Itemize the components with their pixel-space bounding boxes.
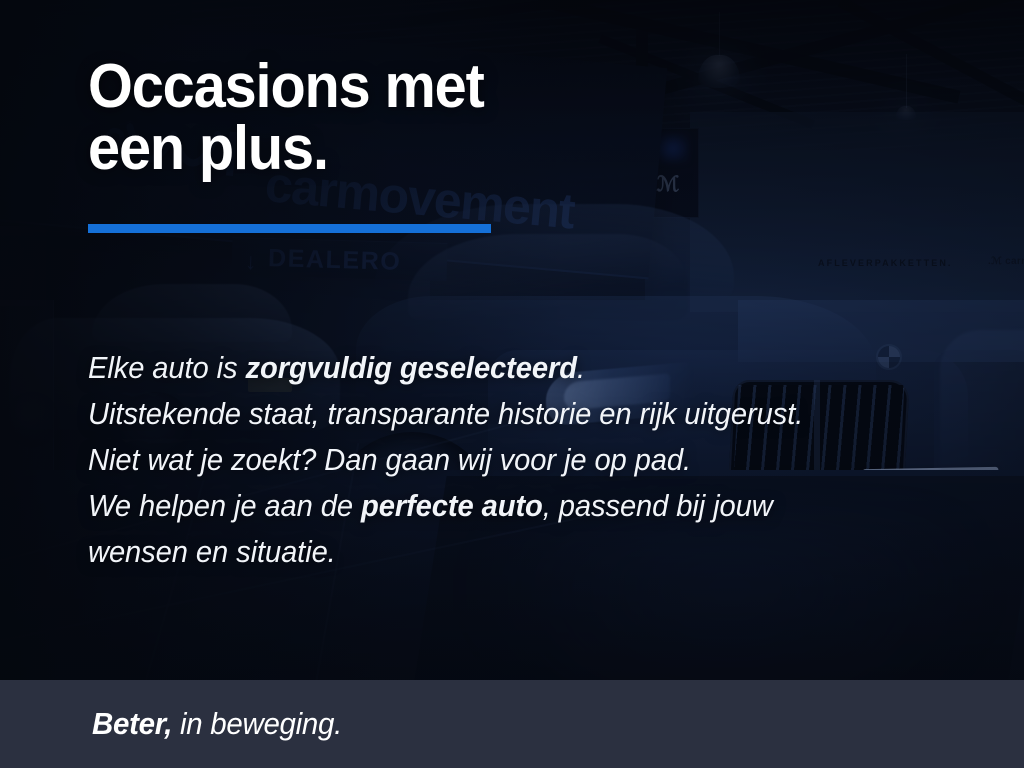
slide-canvas: AFLEVERPAKKETTEN. .ℳ carmovement .ℳ carm… (0, 0, 1024, 768)
footer-tagline: Beter, in beweging. (92, 704, 342, 744)
body-line-1-pre: Elke auto is (88, 350, 246, 385)
body-line-4-bold: perfecte auto (361, 488, 543, 523)
accent-rule (88, 224, 491, 233)
body-line-4-pre: We helpen je aan de (88, 488, 361, 523)
footer-tagline-light: in beweging. (172, 706, 342, 741)
body-line-4: We helpen je aan de perfecte auto, passe… (88, 483, 915, 529)
footer-bar: Beter, in beweging. (0, 680, 1024, 768)
body-line-3-pre: Niet wat je zoekt? Dan gaan wij voor je … (88, 442, 691, 477)
body-line-1-post: . (577, 350, 585, 385)
body-line-5-pre: wensen en situatie. (88, 534, 336, 569)
body-line-4-post: , passend bij jouw (543, 488, 773, 523)
slide-content: Occasions met een plus. Elke auto is zor… (0, 0, 1024, 768)
body-line-1-bold: zorgvuldig geselecteerd (246, 350, 577, 385)
page-title: Occasions met een plus. (88, 56, 609, 180)
body-line-2-pre: Uitstekende staat, transparante historie… (88, 396, 803, 431)
body-line-1: Elke auto is zorgvuldig geselecteerd. (88, 345, 915, 391)
body-line-5: wensen en situatie. (88, 529, 915, 575)
footer-tagline-bold: Beter, (92, 706, 172, 741)
body-line-2: Uitstekende staat, transparante historie… (88, 391, 915, 437)
body-copy: Elke auto is zorgvuldig geselecteerd. Ui… (88, 345, 915, 575)
body-line-3: Niet wat je zoekt? Dan gaan wij voor je … (88, 437, 915, 483)
